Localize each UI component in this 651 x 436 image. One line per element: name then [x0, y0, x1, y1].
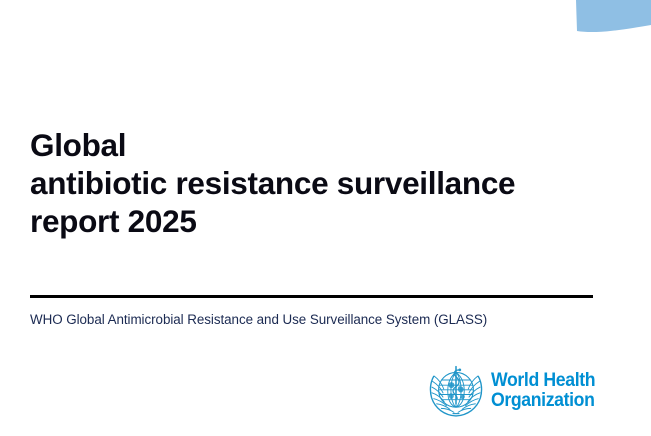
who-wordmark-line-2: Organization [491, 391, 595, 411]
page-subtitle: WHO Global Antimicrobial Resistance and … [30, 311, 487, 329]
horizontal-divider [30, 295, 593, 298]
who-emblem-icon [427, 362, 485, 420]
who-wordmark: World Health Organization [491, 371, 603, 411]
who-wordmark-line-1: World Health [491, 371, 595, 391]
report-cover-page: Global antibiotic resistance surveillanc… [0, 0, 651, 436]
title-line-3: report 2025 [30, 202, 610, 240]
top-right-blue-swoosh-icon [551, 0, 651, 46]
who-logo: World Health Organization [427, 360, 597, 422]
page-title: Global antibiotic resistance surveillanc… [30, 126, 610, 240]
title-line-2: antibiotic resistance surveillance [30, 164, 610, 202]
title-line-1: Global [30, 126, 610, 164]
